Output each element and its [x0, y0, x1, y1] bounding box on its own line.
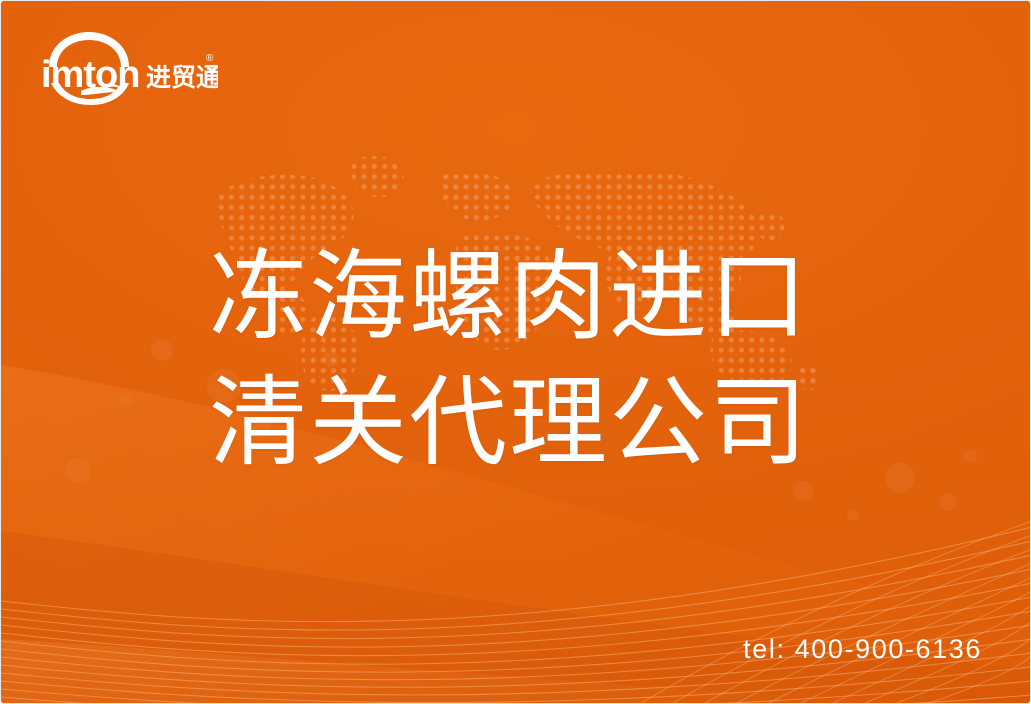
imton-logo[interactable]: imton 进贸通 ®	[33, 29, 218, 105]
contact-phone[interactable]: tel: 400-900-6136	[743, 634, 982, 665]
promo-banner: imton 进贸通 ® 冻海螺肉进口 清关代理公司 tel: 400-900-6…	[0, 0, 1031, 704]
page-title: 冻海螺肉进口 清关代理公司	[209, 233, 869, 485]
logo-wordmark: imton	[41, 54, 139, 96]
logo-chinese-name: 进贸通	[146, 63, 218, 92]
registered-trademark-icon: ®	[206, 53, 214, 64]
headline-line-2: 清关代理公司	[209, 359, 869, 485]
headline-line-1: 冻海螺肉进口	[209, 233, 869, 359]
line-texture-decoration	[1, 483, 1031, 703]
